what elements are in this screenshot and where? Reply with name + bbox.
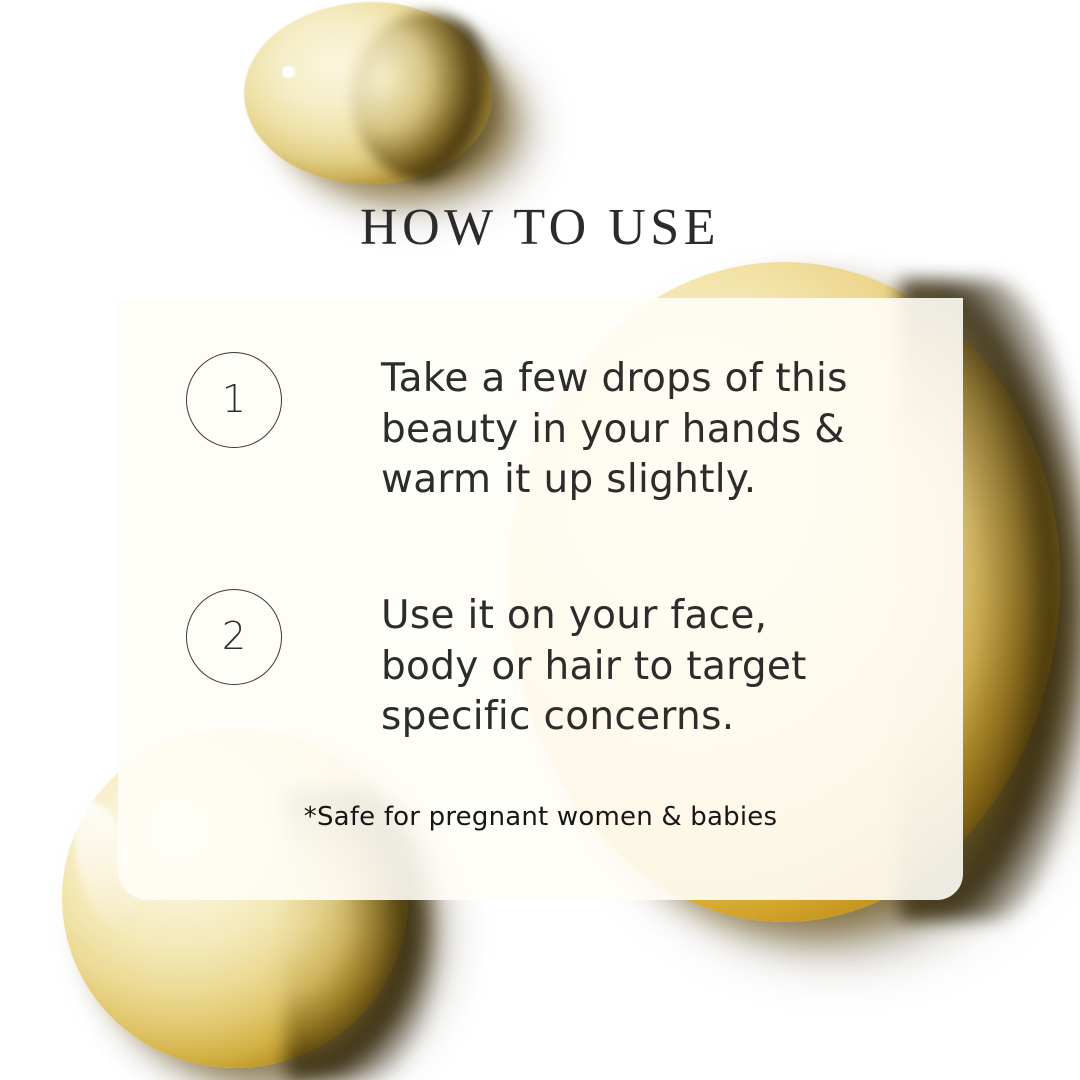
page-title: HOW TO USE — [0, 202, 1080, 254]
step-description-2: Use it on your face, body or hair to tar… — [381, 591, 941, 743]
step-number-badge-2: 2 — [186, 589, 282, 685]
step-description-1: Take a few drops of this beauty in your … — [381, 354, 941, 506]
how-to-use-graphic: HOW TO USE 1 Take a few drops of this be… — [0, 0, 1080, 1080]
oil-droplet-top-icon — [244, 2, 492, 184]
step-number-1: 1 — [222, 380, 246, 418]
step-item-1: 1 Take a few drops of this beauty in you… — [186, 352, 941, 506]
footnote-text: *Safe for pregnant women & babies — [118, 802, 963, 832]
step-number-badge-1: 1 — [186, 352, 282, 448]
step-number-2: 2 — [222, 617, 246, 655]
oil-droplet-top-highlight — [282, 66, 295, 78]
oil-droplet-top-shadow — [352, 12, 502, 182]
step-item-2: 2 Use it on your face, body or hair to t… — [186, 589, 941, 743]
